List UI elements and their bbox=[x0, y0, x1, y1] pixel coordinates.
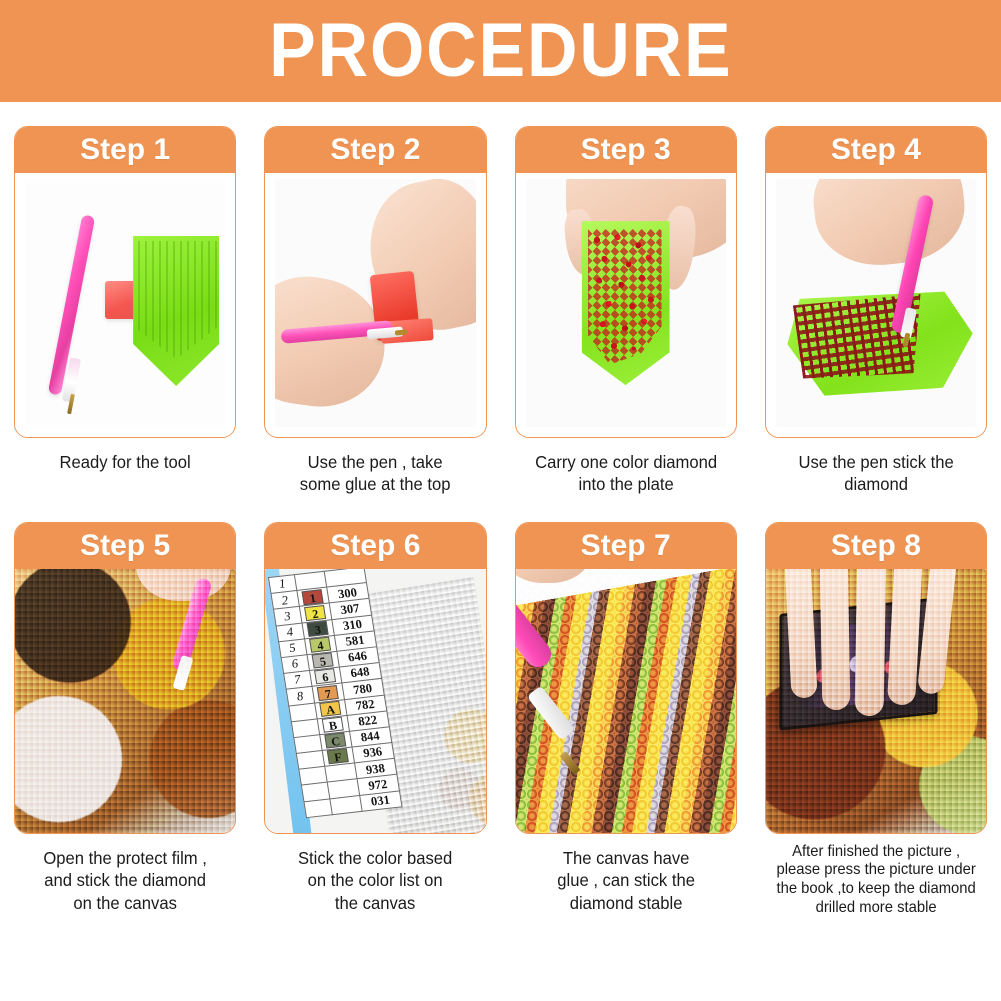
step-cell-3: Step 3 Carry one color diamond into the … bbox=[515, 126, 737, 496]
pink-pen-icon bbox=[171, 576, 213, 672]
step-cell-2: Step 2 Use the pen , take some glue at t… bbox=[264, 126, 486, 496]
step-header-7: Step 7 bbox=[516, 523, 736, 569]
step-caption-5: Open the protect film , and stick the di… bbox=[20, 847, 231, 914]
chart-row-symbol bbox=[329, 795, 361, 814]
step-illustration-8 bbox=[766, 569, 986, 833]
chart-symbol-swatch: 7 bbox=[317, 685, 339, 701]
hand-icon bbox=[136, 569, 231, 601]
step-caption-7: The canvas have glue , can stick the dia… bbox=[520, 847, 731, 914]
step-card-8: Step 8 bbox=[765, 522, 987, 834]
step-header-8: Step 8 bbox=[766, 523, 986, 569]
step-label-2: Step 2 bbox=[330, 135, 420, 165]
pen-nib-icon bbox=[560, 751, 581, 775]
step-body-4 bbox=[766, 173, 986, 437]
step-caption-8: After finished the picture , please pres… bbox=[770, 843, 981, 918]
chart-symbol-swatch: 6 bbox=[314, 669, 336, 685]
step-illustration-6: 121300323074331054581656467664887780A782… bbox=[265, 569, 485, 833]
step-card-4: Step 4 bbox=[765, 126, 987, 438]
chart-symbol-swatch: A bbox=[319, 701, 341, 717]
step-cell-6: Step 6 121300323074331054581656467664887… bbox=[264, 522, 486, 918]
step-illustration-1 bbox=[25, 179, 225, 427]
step-label-5: Step 5 bbox=[80, 531, 170, 561]
step-body-5 bbox=[15, 569, 235, 833]
finger-icon bbox=[784, 569, 817, 699]
hand-icon bbox=[808, 179, 970, 272]
chart-row-dmc-code: 031 bbox=[359, 791, 401, 812]
step-label-7: Step 7 bbox=[581, 531, 671, 561]
book-icon bbox=[779, 597, 937, 730]
chart-symbol-swatch: 1 bbox=[302, 589, 324, 605]
step-caption-2: Use the pen , take some glue at the top bbox=[270, 451, 481, 496]
step-illustration-3 bbox=[526, 179, 726, 427]
step-card-3: Step 3 bbox=[515, 126, 737, 438]
step-label-8: Step 8 bbox=[831, 531, 921, 561]
chart-symbol-swatch: B bbox=[322, 717, 344, 733]
step-label-4: Step 4 bbox=[831, 135, 921, 165]
step-body-3 bbox=[516, 173, 736, 437]
finger-icon bbox=[819, 569, 850, 710]
chart-symbol-swatch: 2 bbox=[304, 605, 326, 621]
step-cell-5: Step 5 Open the protect film , and stick… bbox=[14, 522, 236, 918]
book-cover-pattern bbox=[804, 618, 913, 709]
step-body-2 bbox=[265, 173, 485, 437]
chart-symbol-swatch: 3 bbox=[307, 621, 329, 637]
step-card-5: Step 5 bbox=[14, 522, 236, 834]
chart-symbol-swatch: 5 bbox=[312, 653, 334, 669]
color-chart-sheet: 121300323074331054581656467664887780A782… bbox=[265, 569, 485, 833]
step-caption-4: Use the pen stick the diamond bbox=[770, 451, 981, 496]
step-caption-6: Stick the color based on the color list … bbox=[270, 847, 481, 914]
step-body-7 bbox=[516, 569, 736, 833]
step-card-6: Step 6 121300323074331054581656467664887… bbox=[264, 522, 486, 834]
step-header-2: Step 2 bbox=[265, 127, 485, 173]
step-label-6: Step 6 bbox=[330, 531, 420, 561]
pen-tip-icon bbox=[173, 655, 194, 691]
finger-icon bbox=[855, 569, 887, 716]
chart-symbol-swatch: C bbox=[324, 733, 346, 749]
chart-row-number bbox=[304, 799, 332, 818]
pen-tip-icon bbox=[527, 685, 576, 740]
step-body-1 bbox=[15, 173, 235, 437]
page-title: PROCEDURE bbox=[269, 13, 732, 89]
step-cell-1: Step 1 Ready for the tool bbox=[14, 126, 236, 496]
step-card-1: Step 1 bbox=[14, 126, 236, 438]
step-illustration-5 bbox=[15, 569, 235, 833]
step-illustration-2 bbox=[275, 179, 475, 427]
step-caption-3: Carry one color diamond into the plate bbox=[520, 451, 731, 496]
step-header-6: Step 6 bbox=[265, 523, 485, 569]
step-cell-7: Step 7 The canvas have glue , can stick … bbox=[515, 522, 737, 918]
pink-pen-icon bbox=[516, 569, 557, 672]
step-header-4: Step 4 bbox=[766, 127, 986, 173]
steps-grid-row-1: Step 1 Ready for the tool Step 2 bbox=[0, 102, 1001, 496]
chart-symbol-swatch: F bbox=[327, 749, 349, 765]
step-header-3: Step 3 bbox=[516, 127, 736, 173]
red-diamonds-icon bbox=[588, 229, 662, 365]
step-illustration-7 bbox=[516, 569, 736, 833]
chart-symbol-swatch: 4 bbox=[309, 637, 331, 653]
finger-icon bbox=[917, 569, 957, 695]
step-illustration-4 bbox=[776, 179, 976, 427]
hand-icon bbox=[516, 569, 593, 583]
step-header-1: Step 1 bbox=[15, 127, 235, 173]
step-label-3: Step 3 bbox=[581, 135, 671, 165]
page-header-banner: PROCEDURE bbox=[0, 0, 1001, 102]
step-label-1: Step 1 bbox=[80, 135, 170, 165]
step-caption-1: Ready for the tool bbox=[20, 451, 231, 473]
step-body-6: 121300323074331054581656467664887780A782… bbox=[265, 569, 485, 833]
step-cell-8: Step 8 After finished the picture , plea… bbox=[765, 522, 987, 918]
step-card-7: Step 7 bbox=[515, 522, 737, 834]
step-card-2: Step 2 bbox=[264, 126, 486, 438]
steps-grid-row-2: Step 5 Open the protect film , and stick… bbox=[0, 496, 1001, 918]
finger-icon bbox=[887, 569, 923, 706]
step-cell-4: Step 4 Use the pen stick the diamond bbox=[765, 126, 987, 496]
step-header-5: Step 5 bbox=[15, 523, 235, 569]
step-body-8 bbox=[766, 569, 986, 833]
